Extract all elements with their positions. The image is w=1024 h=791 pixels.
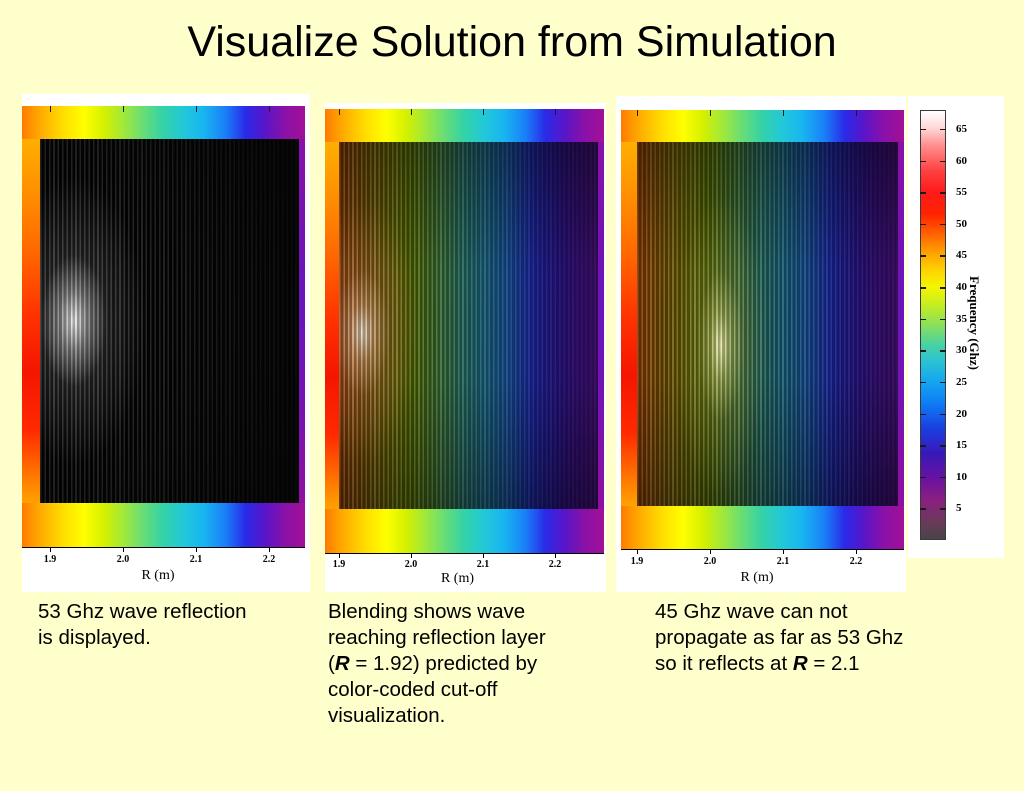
colorbar-tick-label: 25 [956,376,967,388]
colorbar-tick [920,382,926,384]
panel-2-axis: 1.9 2.0 2.1 2.2 R (m) [325,553,606,592]
panel-3-axis-line [621,549,904,550]
caption-text: propagate as far as 53 Ghz [655,626,903,649]
caption-panel-2: Blending shows wavereaching reflection l… [328,599,618,729]
colorbar-tick [940,508,946,510]
caption-text: ( [328,652,335,675]
panel-3-inner: 1.9 2.0 2.1 2.2 R (m) [616,96,906,592]
colorbar-tick [940,414,946,416]
colorbar-tick [920,192,926,194]
panel-2-axis-line [325,553,604,554]
panel-1-top-tick [269,106,270,112]
caption-emphasis: R [793,652,808,675]
colorbar-tick [940,350,946,352]
panel-1-top-tick [50,106,51,112]
panel-1-right-colorbar [299,139,305,503]
caption-line: is displayed. [38,625,318,651]
panel-1-bottom-colorbar [22,503,305,547]
colorbar-tick [920,255,926,257]
colorbar-tick [940,477,946,479]
panel-2-right-colorbar [598,142,604,509]
colorbar-tick-label: 65 [956,123,967,135]
panel-3-tick [710,549,711,554]
panel-2-tick-label-1: 2.0 [405,559,418,570]
panel-1-tick [269,547,270,552]
colorbar-tick-label: 55 [956,186,967,198]
caption-panel-3: 45 Ghz wave can notpropagate as far as 5… [655,599,965,677]
panel-2-top-tick [555,109,556,115]
colorbar-tick-label: 10 [956,471,967,483]
caption-line: (R = 1.92) predicted by [328,651,618,677]
panel-2-tick [483,553,484,558]
colorbar-tick [940,255,946,257]
panel-1-left-colorbar [22,139,40,503]
caption-line: 53 Ghz wave reflection [38,599,318,625]
caption-text: = 1.92) predicted by [350,652,537,675]
colorbar-tick-label: 15 [956,439,967,451]
panel-3-bottom-colorbar [621,506,904,549]
colorbar-tick [920,350,926,352]
panel-1-top-tick [196,106,197,112]
panel-3-tick [783,549,784,554]
colorbar-tick [940,287,946,289]
caption-text: color-coded cut-off [328,678,497,701]
colorbar-tick [920,445,926,447]
panel-3-top-tick [710,110,711,116]
panel-3-left-colorbar [621,142,637,506]
panel-1-tick-label-1: 2.0 [117,554,130,565]
panel-3-tick [856,549,857,554]
panel-2-top-tick [339,109,340,115]
caption-line: propagate as far as 53 Ghz [655,625,965,651]
colorbar-tick [940,319,946,321]
panel-1-field[interactable] [40,139,299,503]
colorbar-tick [920,508,926,510]
panel-3-top-tick [637,110,638,116]
caption-text: reaching reflection layer [328,626,546,649]
panel-1-axis-title: R (m) [14,568,302,584]
panel-1-tick [196,547,197,552]
panel-1-top-colorbar [22,106,305,139]
colorbar-tick-label: 50 [956,218,967,230]
panel-1-tick-label-2: 2.1 [190,554,203,565]
colorbar-tick [940,224,946,226]
frequency-colorbar[interactable]: 6560555045403530252015105 Frequency (Ghz… [908,96,1004,558]
panel-3-right-colorbar [898,142,904,506]
panel-2-left-colorbar [325,142,339,509]
panel-2-tick-label-3: 2.2 [549,559,562,570]
panel-2-inner: 1.9 2.0 2.1 2.2 R (m) [325,103,606,592]
panel-2-tick [555,553,556,558]
caption-text: visualization. [328,704,445,727]
panel-3-axis-title: R (m) [612,570,902,586]
caption-line: visualization. [328,703,618,729]
panel-1-tick-label-0: 1.9 [44,554,57,565]
colorbar-axis-title: Frequency (Ghz) [966,276,982,370]
panel-3-field[interactable] [637,142,898,506]
panel-3-tick-label-2: 2.1 [777,556,790,567]
caption-line: so it reflects at R = 2.1 [655,651,965,677]
panel-3-tick-label-1: 2.0 [704,556,717,567]
panel-2-field[interactable] [339,142,598,509]
colorbar-tick-label: 5 [956,502,962,514]
panel-2-top-tick [483,109,484,115]
panel-1-tick [123,547,124,552]
caption-text: Blending shows wave [328,600,525,623]
figure-panel-3[interactable]: 1.9 2.0 2.1 2.2 R (m) [616,96,906,592]
figure-panel-2[interactable]: 1.9 2.0 2.1 2.2 R (m) [325,103,606,592]
panel-3-tick [637,549,638,554]
colorbar-tick-label: 60 [956,155,967,167]
panel-1-tick [50,547,51,552]
panel-3-fringes [637,142,898,506]
colorbar-gradient [920,110,946,540]
figure-panel-1[interactable]: 1.9 2.0 2.1 2.2 R (m) [22,94,310,592]
caption-text: 45 Ghz wave can not [655,600,848,623]
panel-1-axis-line [22,547,305,548]
panel-3-axis: 1.9 2.0 2.1 2.2 R (m) [616,549,906,592]
panel-3-tick-label-0: 1.9 [631,556,644,567]
colorbar-tick-label: 20 [956,408,967,420]
caption-text: is displayed. [38,626,151,649]
panel-3-top-tick [783,110,784,116]
colorbar-tick [920,319,926,321]
panel-1-tick-label-3: 2.2 [263,554,276,565]
panel-1-fringes [40,139,299,503]
caption-line: Blending shows wave [328,599,618,625]
panel-2-top-tick [411,109,412,115]
panel-1-top-tick [123,106,124,112]
panel-2-fringes [339,142,598,509]
colorbar-tick [920,129,926,131]
colorbar-tick [920,414,926,416]
panel-2-top-colorbar [325,109,604,142]
colorbar-tick [940,445,946,447]
colorbar-tick [940,129,946,131]
panel-2-axis-title: R (m) [317,571,598,587]
caption-line: reaching reflection layer [328,625,618,651]
panel-1-axis: 1.9 2.0 2.1 2.2 R (m) [22,547,310,592]
panel-3-top-tick [856,110,857,116]
colorbar-tick [920,161,926,163]
panel-2-bottom-colorbar [325,509,604,553]
caption-text: 53 Ghz wave reflection [38,600,247,623]
page-title: Visualize Solution from Simulation [0,18,1024,67]
panel-2-tick [411,553,412,558]
caption-text: so it reflects at [655,652,793,675]
panel-3-top-colorbar [621,110,904,142]
panel-2-tick-label-0: 1.9 [333,559,346,570]
caption-line: color-coded cut-off [328,677,618,703]
colorbar-tick [940,161,946,163]
panel-1-inner: 1.9 2.0 2.1 2.2 R (m) [22,94,310,592]
caption-emphasis: R [335,652,350,675]
colorbar-tick [920,224,926,226]
panel-3-tick-label-3: 2.2 [850,556,863,567]
colorbar-tick [940,382,946,384]
panel-2-tick [339,553,340,558]
panel-2-tick-label-2: 2.1 [477,559,490,570]
colorbar-tick [940,192,946,194]
colorbar-tick [920,287,926,289]
colorbar-tick-label: 45 [956,249,967,261]
caption-line: 45 Ghz wave can not [655,599,965,625]
colorbar-tick [920,477,926,479]
caption-text: = 2.1 [808,652,860,675]
caption-panel-1: 53 Ghz wave reflectionis displayed. [38,599,318,651]
